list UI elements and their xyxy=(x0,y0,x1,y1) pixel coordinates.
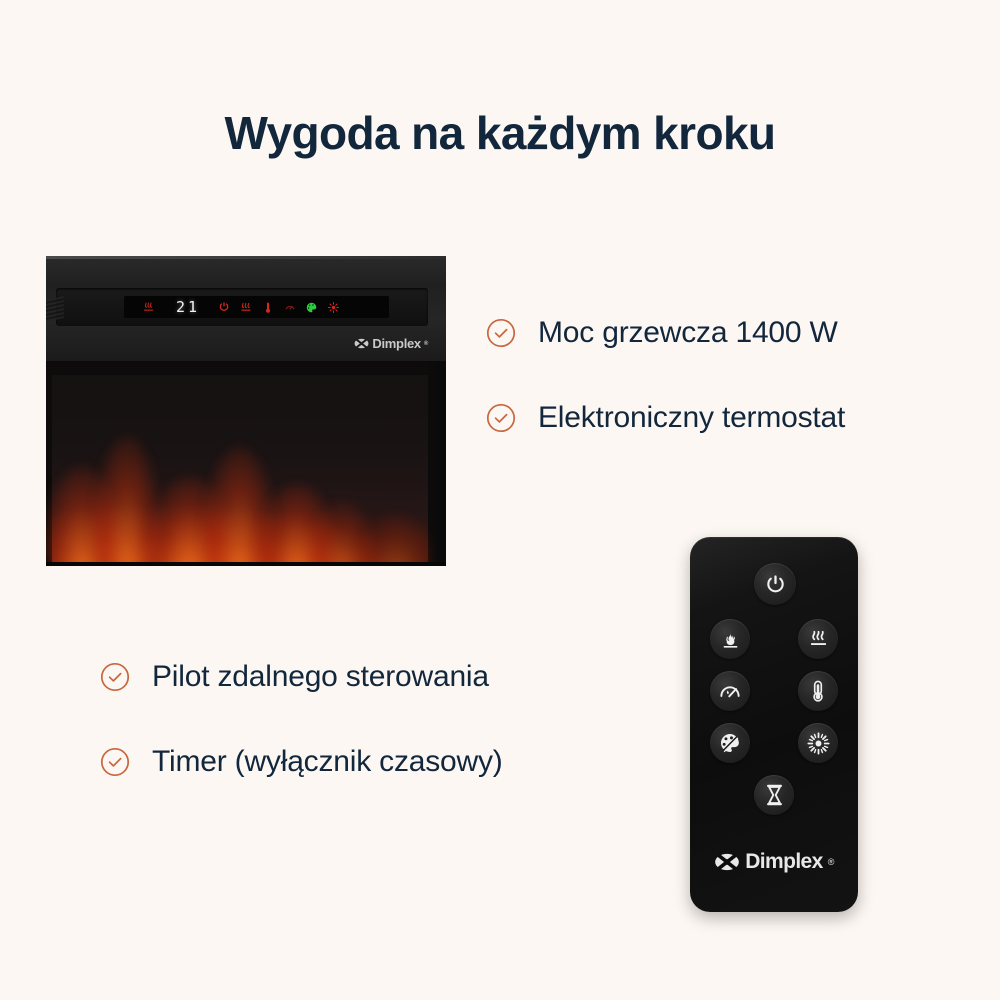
fireplace-display-panel[interactable]: 21 xyxy=(124,296,389,318)
vent-grille xyxy=(46,296,64,322)
flame-color-button[interactable] xyxy=(710,723,750,763)
fireplace-product-image: 21 xyxy=(46,256,446,566)
remote-brand-name: Dimplex xyxy=(745,850,823,874)
dimplex-mark-icon xyxy=(354,338,369,349)
display-thermometer-indicator-icon xyxy=(262,302,273,313)
flame-effect-button[interactable] xyxy=(710,619,750,659)
dimplex-mark-icon xyxy=(714,853,740,871)
thermometer-icon xyxy=(808,680,828,702)
circle-check-icon xyxy=(486,403,516,433)
thermostat-button[interactable] xyxy=(798,671,838,711)
timer-button[interactable] xyxy=(754,775,794,815)
feature-label: Pilot zdalnego sterowania xyxy=(152,660,489,693)
display-power-indicator-icon xyxy=(218,302,229,313)
feature-label: Elektroniczny termostat xyxy=(538,401,845,434)
circle-check-icon xyxy=(100,662,130,692)
list-item: Timer (wyłącznik czasowy) xyxy=(100,745,503,778)
remote-control: Dimplex ® xyxy=(690,537,858,912)
list-item: Pilot zdalnego sterowania xyxy=(100,660,503,693)
remote-brand-logo: Dimplex ® xyxy=(690,850,858,874)
display-heat-waves-indicator-icon xyxy=(240,302,251,313)
hourglass-icon xyxy=(765,784,784,806)
display-flame-speed-indicator-icon xyxy=(284,302,295,313)
power-button[interactable] xyxy=(754,563,796,605)
display-heat-indicator-icon xyxy=(142,301,154,313)
bezel-top-edge xyxy=(46,256,446,259)
feature-label: Timer (wyłącznik czasowy) xyxy=(152,745,503,778)
fireplace-firebox xyxy=(46,361,446,566)
sun-icon xyxy=(807,732,830,755)
list-item: Moc grzewcza 1400 W xyxy=(486,316,845,349)
flame-icon xyxy=(720,629,741,650)
circle-check-icon xyxy=(100,747,130,777)
flame-speed-gauge-icon xyxy=(719,680,741,702)
display-brightness-indicator-icon xyxy=(328,302,339,313)
fireplace-top-bezel: 21 xyxy=(46,256,446,361)
flame-effect-area xyxy=(52,375,428,566)
power-icon xyxy=(765,574,786,595)
heater-button[interactable] xyxy=(798,619,838,659)
firebox-bottom-edge xyxy=(46,562,446,566)
feature-list-left: Pilot zdalnego sterowania Timer (wyłączn… xyxy=(100,660,503,778)
firebox-side-shadow xyxy=(428,361,446,566)
brightness-button[interactable] xyxy=(798,723,838,763)
fireplace-brand-logo: Dimplex ® xyxy=(354,336,428,351)
page-title: Wygoda na każdym kroku xyxy=(0,108,1000,159)
feature-label: Moc grzewcza 1400 W xyxy=(538,316,838,349)
heat-waves-icon xyxy=(808,629,829,650)
display-indicator-group xyxy=(218,302,339,313)
feature-list-right: Moc grzewcza 1400 W Elektroniczny termos… xyxy=(486,316,845,434)
circle-check-icon xyxy=(486,318,516,348)
display-flame-color-indicator-icon xyxy=(306,302,317,313)
fireplace-brand-name: Dimplex xyxy=(372,336,420,351)
list-item: Elektroniczny termostat xyxy=(486,401,845,434)
display-temperature-value: 21 xyxy=(176,298,200,316)
fireplace-registered-mark: ® xyxy=(424,341,428,347)
remote-registered-mark: ® xyxy=(828,857,834,867)
paint-palette-icon xyxy=(719,732,741,754)
flame-speed-button[interactable] xyxy=(710,671,750,711)
